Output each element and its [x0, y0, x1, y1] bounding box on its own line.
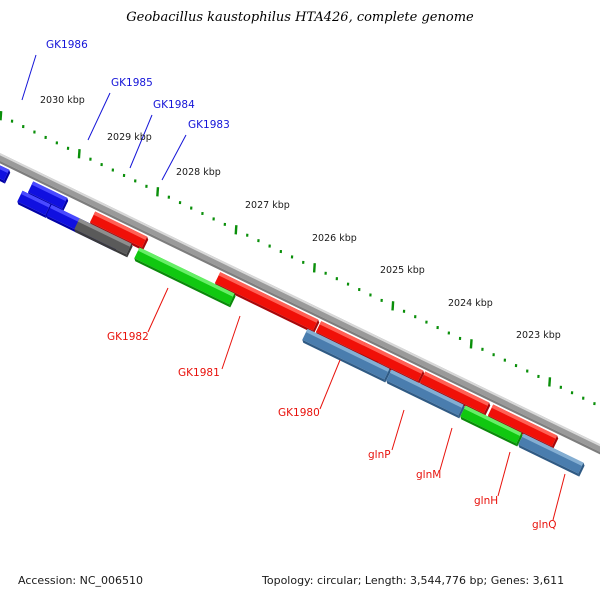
ruler-major-tick [393, 301, 394, 310]
ruler-label-2029: 2029 kbp [107, 132, 152, 143]
ruler-major-tick [79, 149, 80, 158]
ruler-label-2027: 2027 kbp [245, 200, 290, 211]
feature-blocks[interactable] [0, 85, 600, 502]
leader-line-glnH [498, 452, 510, 496]
genome-map-canvas[interactable]: Geobacillus kaustophilus HTA426, complet… [0, 0, 600, 600]
leader-line-glnQ [553, 474, 565, 520]
ruler-label-2030: 2030 kbp [40, 95, 85, 106]
gene-label-GK1984[interactable]: GK1984 [153, 99, 195, 111]
gene-label-GK1980[interactable]: GK1980 [278, 407, 320, 419]
ruler-major-tick [549, 377, 550, 386]
leader-line-GK1980 [320, 360, 340, 409]
accession-text: Accession: NC_006510 [18, 574, 143, 587]
leader-line-glnP [392, 410, 404, 450]
genome-map-viewer[interactable]: Geobacillus kaustophilus HTA426, complet… [0, 0, 600, 600]
page-title: Geobacillus kaustophilus HTA426, complet… [126, 10, 474, 25]
ruler-label-2023: 2023 kbp [516, 330, 561, 341]
ruler-label-2025: 2025 kbp [380, 265, 425, 276]
gene-label-glnM[interactable]: glnM [416, 469, 441, 481]
label-leader-lines [22, 55, 565, 520]
leader-line-GK1981 [222, 316, 240, 369]
gene-label-GK1981[interactable]: GK1981 [178, 367, 220, 379]
gene-label-glnQ[interactable]: glnQ [532, 519, 557, 531]
gene-label-GK1983[interactable]: GK1983 [188, 119, 230, 131]
leader-line-GK1986 [22, 55, 36, 100]
gene-label-GK1985[interactable]: GK1985 [111, 77, 153, 89]
gene-labels[interactable]: GK1986GK1985GK1984GK1983GK1982GK1981GK19… [46, 39, 557, 531]
ruler-label-2026: 2026 kbp [312, 233, 357, 244]
ruler-major-tick [314, 263, 315, 272]
leader-line-GK1982 [148, 288, 168, 332]
gene-label-GK1986[interactable]: GK1986 [46, 39, 88, 51]
ruler-major-tick [1, 111, 2, 120]
ruler-label-2028: 2028 kbp [176, 167, 221, 178]
genome-stats-text: Topology: circular; Length: 3,544,776 bp… [261, 574, 564, 587]
ruler-tickmarks [0, 87, 600, 454]
gene-label-GK1982[interactable]: GK1982 [107, 331, 149, 343]
gene-label-glnH[interactable]: glnH [474, 495, 498, 507]
ruler-major-tick [236, 225, 237, 234]
gene-label-glnP[interactable]: glnP [368, 449, 391, 461]
leader-line-glnM [440, 428, 452, 470]
ruler-major-tick [157, 187, 158, 196]
ruler-major-tick [471, 339, 472, 348]
ruler-label-2024: 2024 kbp [448, 298, 493, 309]
